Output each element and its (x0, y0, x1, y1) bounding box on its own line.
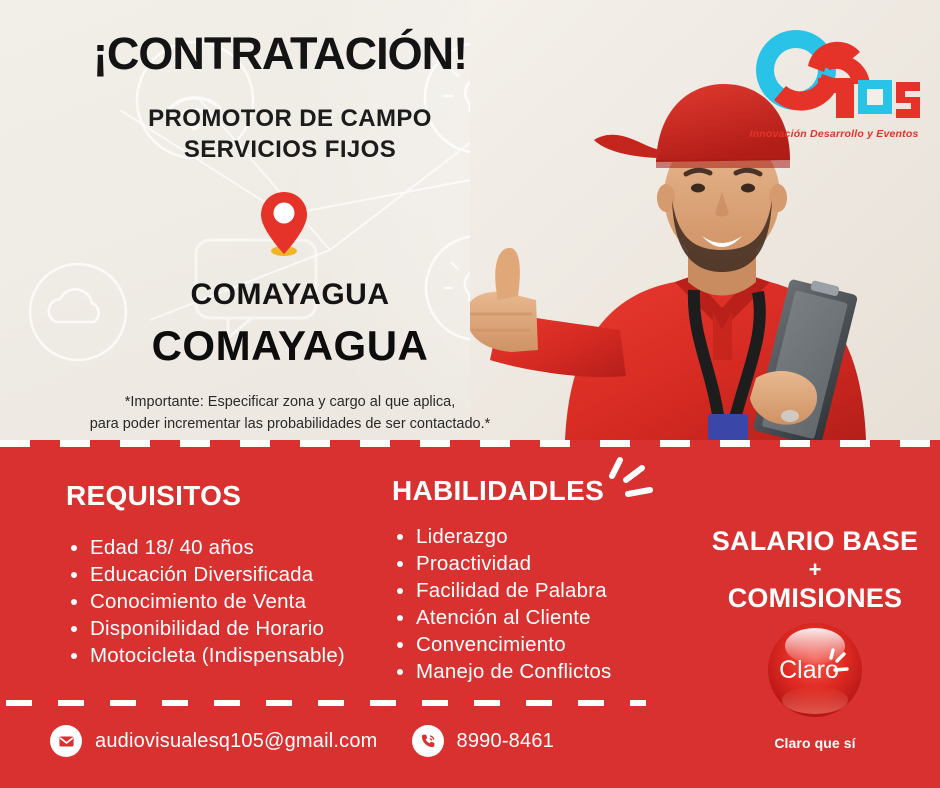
position-line-1: PROMOTOR DE CAMPO (0, 104, 580, 135)
phone-icon (412, 725, 444, 757)
salary-plus: + (690, 558, 940, 582)
top-section: ¡CONTRATACIÓN! PROMOTOR DE CAMPO SERVICI… (0, 0, 940, 440)
list-item: Manejo de Conflictos (392, 658, 672, 685)
dashed-divider-top (0, 440, 940, 447)
q105-logo-mark (744, 22, 924, 122)
svg-text:Claro: Claro (779, 656, 839, 684)
skills-list: Liderazgo Proactividad Facilidad de Pala… (392, 523, 672, 685)
list-item: Motocicleta (Indispensable) (66, 642, 386, 669)
list-item: Facilidad de Palabra (392, 577, 672, 604)
company-logo: Innovación Desarrollo y Eventos (744, 22, 924, 140)
claro-logo-icon: Claro (765, 620, 865, 720)
region-name: COMAYAGUA (0, 278, 580, 312)
logo-tagline: Innovación Desarrollo y Eventos (744, 128, 924, 140)
list-item: Convencimiento (392, 631, 672, 658)
salary-block: SALARIO BASE + COMISIONES (690, 526, 940, 614)
email-text: audiovisualesq105@gmail.com (95, 730, 378, 753)
list-item: Educación Diversificada (66, 561, 386, 588)
requirements-column: REQUISITOS Edad 18/ 40 años Educación Di… (66, 480, 386, 669)
partner-logo-block: Claro Claro que sí (690, 620, 940, 751)
contact-phone[interactable]: 8990-8461 (412, 725, 554, 757)
skills-column: HABILIDADLES Liderazgo Proactividad Faci… (392, 475, 672, 685)
list-item: Atención al Cliente (392, 604, 672, 631)
list-item: Liderazgo (392, 523, 672, 550)
position-line-2: SERVICIOS FIJOS (0, 135, 580, 166)
salary-line-1: SALARIO BASE (690, 526, 940, 557)
contact-email[interactable]: audiovisualesq105@gmail.com (50, 725, 378, 757)
list-item: Proactividad (392, 550, 672, 577)
phone-text: 8990-8461 (457, 730, 554, 753)
list-item: Conocimiento de Venta (66, 588, 386, 615)
contact-footer: audiovisualesq105@gmail.com 8990-8461 (50, 725, 588, 757)
position-title: PROMOTOR DE CAMPO SERVICIOS FIJOS (0, 104, 580, 165)
dashed-divider-footer (6, 700, 646, 706)
requirements-title: REQUISITOS (66, 480, 386, 512)
page-title: ¡CONTRATACIÓN! (0, 28, 560, 80)
salary-line-2: COMISIONES (690, 583, 940, 614)
note-line-2: para poder incrementar las probabilidade… (0, 414, 580, 436)
requirements-list: Edad 18/ 40 años Educación Diversificada… (66, 534, 386, 669)
city-name: COMAYAGUA (0, 322, 580, 370)
sparkle-icon (600, 456, 660, 506)
list-item: Edad 18/ 40 años (66, 534, 386, 561)
list-item: Disponibilidad de Horario (66, 615, 386, 642)
important-note: *Importante: Especificar zona y cargo al… (0, 392, 580, 436)
job-poster: ¡CONTRATACIÓN! PROMOTOR DE CAMPO SERVICI… (0, 0, 940, 788)
partner-slogan: Claro que sí (690, 735, 940, 751)
envelope-icon (50, 725, 82, 757)
note-line-1: *Importante: Especificar zona y cargo al… (0, 392, 580, 414)
map-pin-icon (258, 188, 310, 258)
